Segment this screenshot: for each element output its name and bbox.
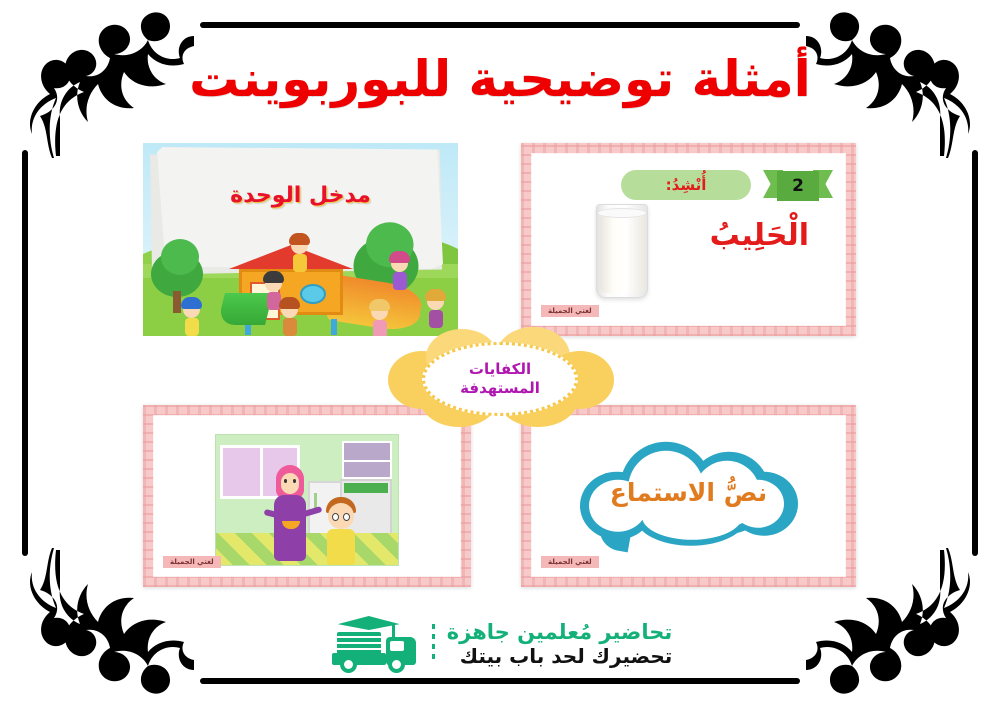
books-stack-icon <box>337 632 381 654</box>
slide-card-unit-intro[interactable]: مدخل الوحدة <box>143 143 458 336</box>
frame-rail-bottom <box>200 678 800 684</box>
frame-rail-top <box>200 22 800 28</box>
recite-label-pill: أُنْشِدُ: <box>621 170 751 200</box>
footer-tagline-secondary: تحضيرك لحد باب بيتك <box>447 645 672 668</box>
textbook-badge: لغتي الجميلة <box>163 556 221 568</box>
slide-inner-canvas: لغتي الجميلة <box>154 416 460 576</box>
mother-figure <box>268 465 312 565</box>
ribbon-number: 2 <box>777 171 819 201</box>
truck-wheel <box>388 656 405 673</box>
cabinet-icon <box>342 441 392 479</box>
child-figure <box>427 293 444 328</box>
playground-illustration: مدخل الوحدة <box>143 143 458 336</box>
competencies-line-2: المستهدفة <box>460 379 540 398</box>
child-figure <box>391 255 408 290</box>
textbook-badge: لغتي الجميلة <box>541 556 599 568</box>
flower-core: الكفايات المستهدفة <box>422 342 578 416</box>
vocabulary-word: الْحَلِيبُ <box>710 218 809 253</box>
footer-logo-text: تحاضير مُعلمين جاهزة تحضيرك لحد باب بيتك <box>447 620 672 667</box>
poster-page: أمثلة توضيحية للبوربوينت <box>0 0 1000 706</box>
child-figure <box>281 301 298 336</box>
child-figure <box>183 301 200 336</box>
page-title: أمثلة توضيحية للبوربوينت <box>0 52 1000 107</box>
slide-card-recite-milk[interactable]: أُنْشِدُ: 2 الْحَلِيبُ لغتي الجميلة <box>521 143 856 336</box>
child-figure <box>291 237 308 272</box>
frame-rail-right <box>972 150 978 556</box>
speech-bubble-cloud-icon: نصُّ الاستماع <box>580 438 798 550</box>
kitchen-illustration <box>215 434 399 566</box>
target-competencies-flower[interactable]: الكفايات المستهدفة <box>386 327 614 431</box>
truck-wheel <box>340 656 357 673</box>
footer-divider <box>432 624 435 664</box>
milk-glass-icon <box>596 204 648 298</box>
slide-card-kitchen-scene[interactable]: لغتي الجميلة <box>143 405 471 587</box>
textbook-badge: لغتي الجميلة <box>541 305 599 317</box>
footer-tagline-primary: تحاضير مُعلمين جاهزة <box>447 620 672 644</box>
competencies-line-1: الكفايات <box>469 360 531 379</box>
footer-logo: تحاضير مُعلمين جاهزة تحضيرك لحد باب بيتك <box>0 612 1000 676</box>
graduation-cap-icon <box>338 616 400 630</box>
slide-heading: مدخل الوحدة <box>143 183 458 208</box>
slide-card-listening-text[interactable]: نصُّ الاستماع لغتي الجميلة <box>521 405 856 587</box>
lesson-number-ribbon: 2 <box>763 169 833 203</box>
delivery-truck-icon <box>328 615 420 673</box>
tree-left-icon <box>151 251 203 297</box>
frame-rail-left <box>22 150 28 556</box>
slide-inner-canvas: نصُّ الاستماع لغتي الجميلة <box>532 416 845 576</box>
boy-figure <box>324 497 358 565</box>
listening-text-label: نصُّ الاستماع <box>580 478 798 507</box>
slide-inner-canvas: أُنْشِدُ: 2 الْحَلِيبُ لغتي الجميلة <box>532 154 845 325</box>
